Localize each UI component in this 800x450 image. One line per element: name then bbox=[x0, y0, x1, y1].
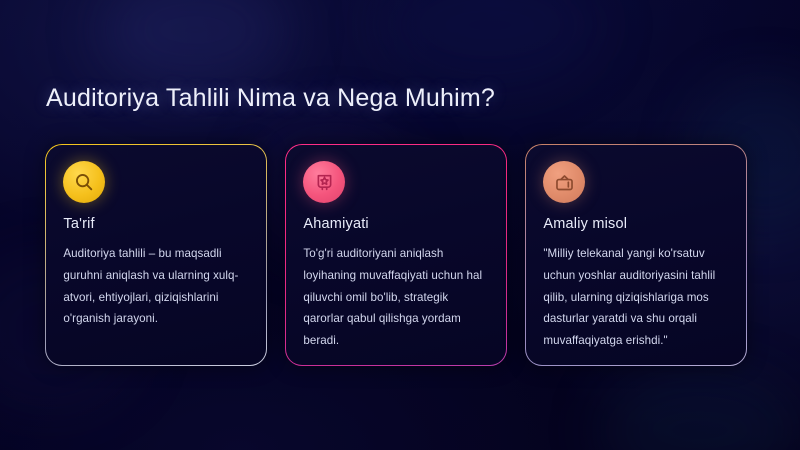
card-tarif-inner: Ta'rif Auditoriya tahlili – bu maqsadli … bbox=[46, 145, 265, 364]
background-glow bbox=[600, 370, 800, 450]
target-award-icon bbox=[314, 172, 335, 193]
background-glow bbox=[380, 0, 600, 90]
card-body-ahamiyati: To'g'ri auditoriyani aniqlash loyihaning… bbox=[303, 243, 488, 351]
television-icon bbox=[554, 172, 575, 193]
card-ahamiyati[interactable]: Ahamiyati To'g'ri auditoriyani aniqlash … bbox=[285, 144, 507, 366]
card-title-tarif: Ta'rif bbox=[63, 216, 248, 232]
target-award-icon-badge bbox=[303, 161, 345, 203]
slide-canvas: Auditoriya Tahlili Nima va Nega Muhim? T… bbox=[0, 0, 800, 450]
television-icon-badge bbox=[543, 161, 585, 203]
card-body-amaliy-misol: "Milliy telekanal yangi ko'rsatuv uchun … bbox=[543, 243, 728, 351]
card-ahamiyati-inner: Ahamiyati To'g'ri auditoriyani aniqlash … bbox=[286, 145, 505, 364]
page-title: Auditoriya Tahlili Nima va Nega Muhim? bbox=[46, 84, 495, 113]
card-amaliy-misol[interactable]: Amaliy misol "Milliy telekanal yangi ko'… bbox=[525, 144, 747, 366]
background-glow bbox=[100, 0, 290, 90]
search-icon-badge bbox=[63, 161, 105, 203]
card-title-amaliy-misol: Amaliy misol bbox=[543, 216, 728, 232]
search-icon bbox=[73, 171, 95, 193]
card-title-ahamiyati: Ahamiyati bbox=[303, 216, 488, 232]
card-amaliy-misol-inner: Amaliy misol "Milliy telekanal yangi ko'… bbox=[526, 145, 745, 364]
card-tarif[interactable]: Ta'rif Auditoriya tahlili – bu maqsadli … bbox=[45, 144, 267, 366]
card-body-tarif: Auditoriya tahlili – bu maqsadli guruhni… bbox=[63, 243, 248, 329]
